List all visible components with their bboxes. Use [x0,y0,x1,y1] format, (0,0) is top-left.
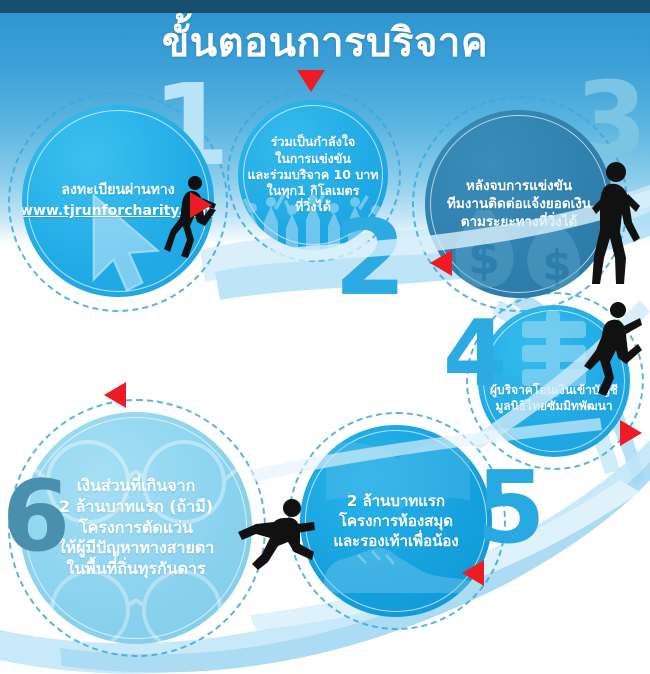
arrow-step3-to-step4 [430,250,452,276]
arrow-step5-to-step6 [462,560,484,586]
runner-silhouette-5 [238,496,318,574]
infographic-canvas: ขั้นตอนการบริจาค 1 2 3 4 5 6 ลงทะเบียนผ่… [0,0,650,674]
arrow-step6-up [104,382,126,408]
page-title: ขั้นตอนการบริจาค [0,20,650,66]
arrow-title-down [297,70,325,92]
arrow-step1-to-step2 [190,192,212,218]
arrow-step4-to-step5 [620,420,642,446]
foreground-ribbon-swooshes [0,0,650,674]
runner-silhouette-4 [584,300,644,400]
runner-silhouette-3 [584,160,646,288]
